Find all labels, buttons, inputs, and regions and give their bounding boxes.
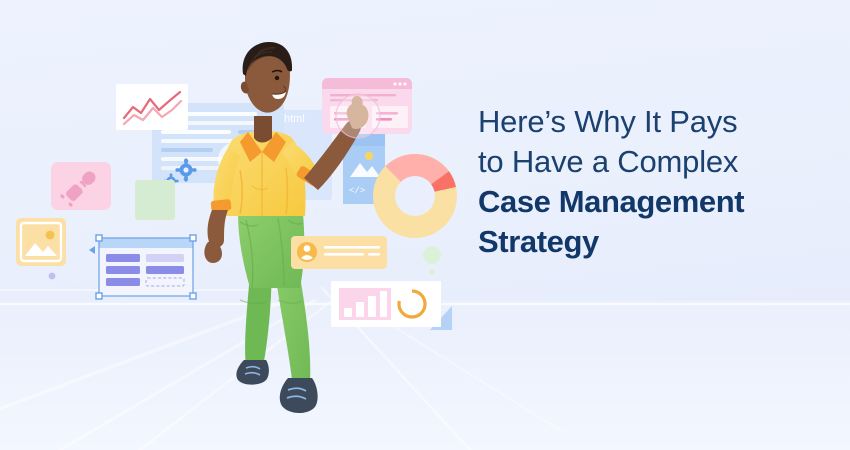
- svg-text:</>: </>: [349, 186, 365, 196]
- headline-line-1: Here’s Why It Pays: [478, 102, 828, 142]
- donut-chart: [373, 154, 457, 238]
- selected-form-panel[interactable]: [89, 235, 196, 299]
- headline: Here’s Why It Pays to Have a Complex Cas…: [478, 102, 828, 262]
- window-dots: [394, 83, 407, 86]
- dashboard-card: [331, 281, 452, 330]
- green-square-card: [135, 180, 175, 220]
- headline-line-3: Case Management: [478, 182, 828, 222]
- image-placeholder-card: [16, 218, 66, 266]
- plug-card: [51, 162, 111, 210]
- decor-dot: [49, 273, 56, 280]
- headline-line-4: Strategy: [478, 222, 828, 262]
- decor-dot-green: [429, 269, 435, 275]
- eye: [275, 76, 279, 80]
- user-contact-card: [291, 236, 387, 269]
- hero-banner: html: [0, 0, 850, 450]
- headline-line-2: to Have a Complex: [478, 142, 828, 182]
- decor-circle-green: [423, 246, 441, 264]
- line-chart-card: [116, 84, 188, 130]
- shoe-back: [236, 360, 268, 385]
- svg-text:html: html: [284, 113, 305, 125]
- shoe-front: [280, 378, 318, 413]
